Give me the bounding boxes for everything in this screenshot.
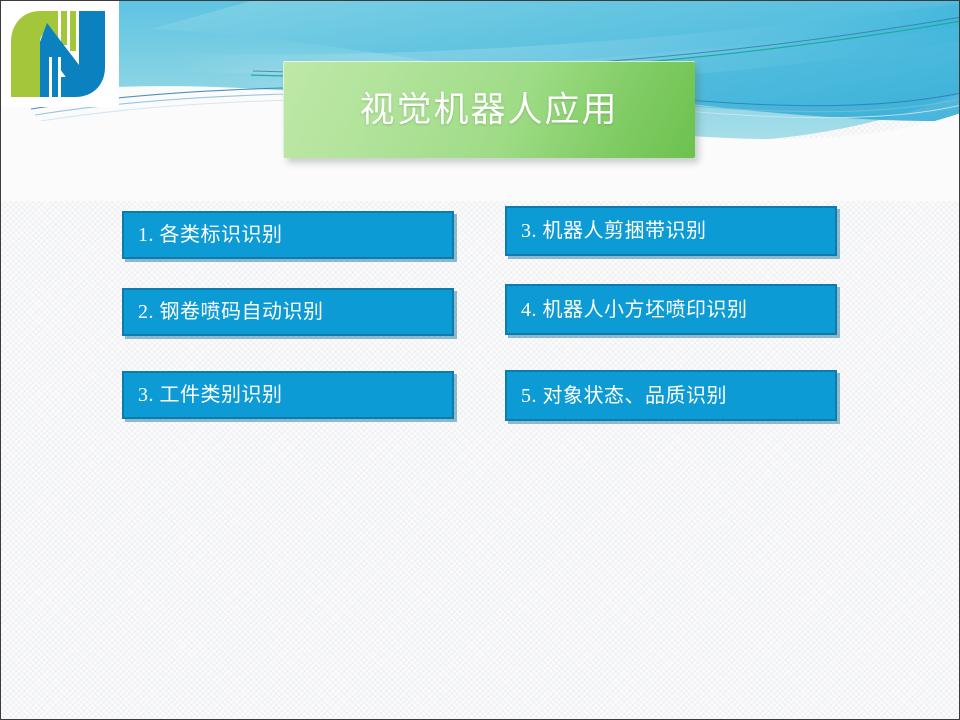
list-item-label: 5. 对象状态、品质识别 xyxy=(507,385,727,407)
list-item-right-1[interactable]: 3. 机器人剪捆带识别 xyxy=(505,206,837,256)
list-item-label: 2. 钢卷喷码自动识别 xyxy=(124,301,324,323)
list-item-right-2[interactable]: 4. 机器人小方坯喷印识别 xyxy=(505,284,837,335)
slide-title-banner: 视觉机器人应用 xyxy=(283,61,695,158)
company-logo xyxy=(1,1,119,107)
list-item-label: 1. 各类标识识别 xyxy=(124,224,283,246)
list-item-left-2[interactable]: 2. 钢卷喷码自动识别 xyxy=(122,288,454,336)
presentation-slide: 视觉机器人应用 1. 各类标识识别 2. 钢卷喷码自动识别 3. 工件类别识别 … xyxy=(0,0,960,720)
list-item-label: 4. 机器人小方坯喷印识别 xyxy=(507,299,748,321)
list-item-left-3[interactable]: 3. 工件类别识别 xyxy=(122,371,454,419)
page-title: 视觉机器人应用 xyxy=(283,92,695,127)
list-item-right-3[interactable]: 5. 对象状态、品质识别 xyxy=(505,370,837,421)
list-item-left-1[interactable]: 1. 各类标识识别 xyxy=(122,211,454,259)
list-item-label: 3. 机器人剪捆带识别 xyxy=(507,220,707,242)
list-item-label: 3. 工件类别识别 xyxy=(124,384,283,406)
